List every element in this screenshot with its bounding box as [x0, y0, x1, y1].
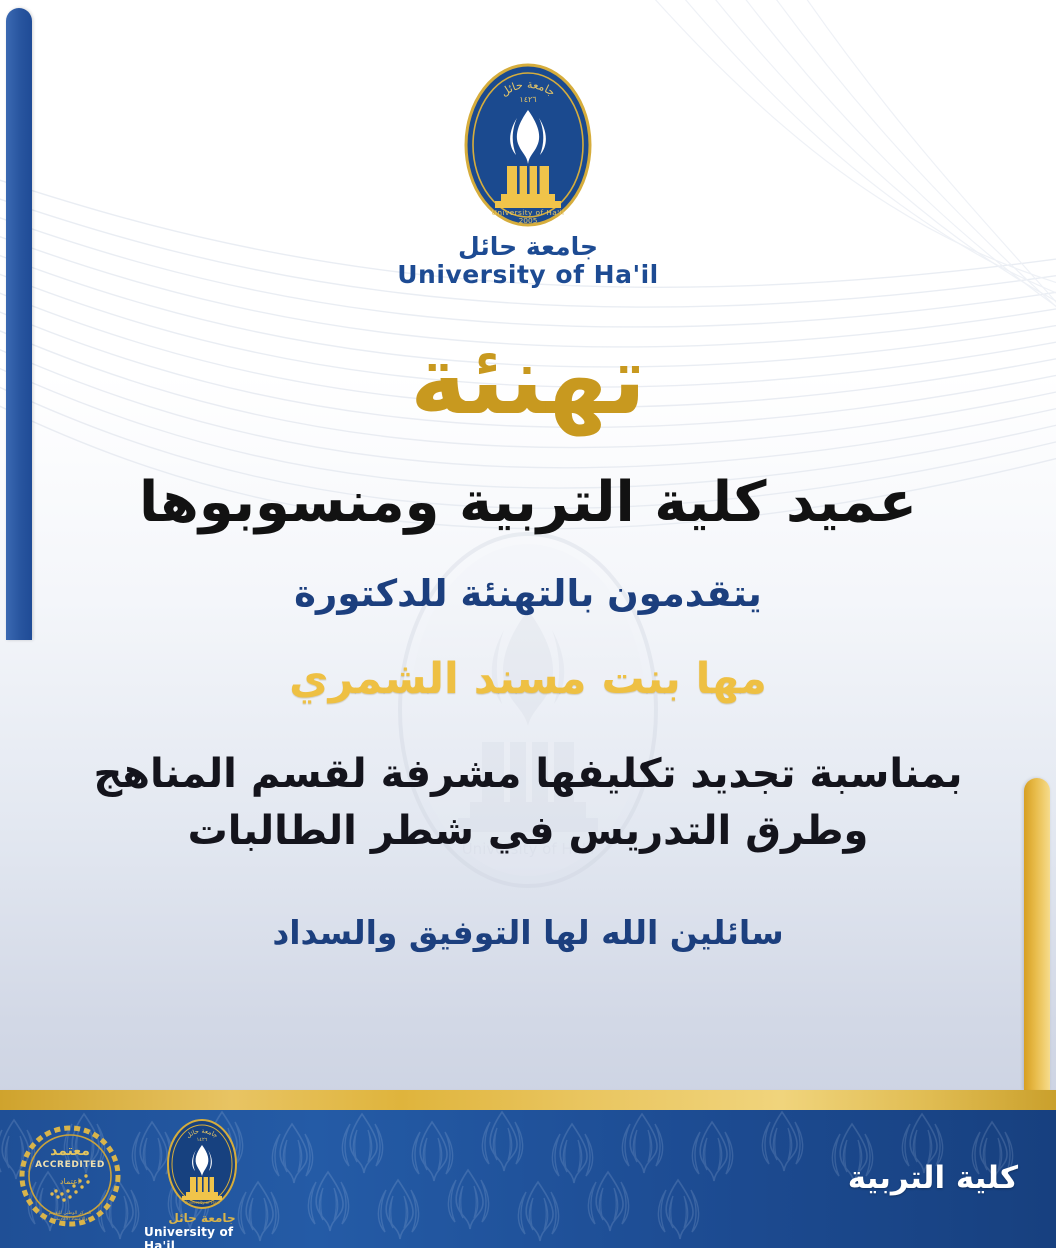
poster-footer: كلية التربية معتمد ACCREDITED اعتماد: [0, 1110, 1056, 1248]
svg-text:معتمد: معتمد: [50, 1143, 90, 1159]
wordmark-english: University of Ha'il: [397, 262, 659, 288]
svg-text:المركز الوطني للتقويم: المركز الوطني للتقويم: [49, 1210, 92, 1216]
university-crest-icon: جامعة حائل ١٤٢٦: [462, 62, 594, 228]
right-frame-bar: [1024, 778, 1050, 1090]
body-line-1: بمناسبة تجديد تكليفها مشرفة لقسم المناهج: [46, 746, 1010, 803]
svg-text:اعتماد: اعتماد: [60, 1177, 80, 1186]
subline: يتقدمون بالتهنئة للدكتورة: [46, 572, 1010, 616]
body-line-2: وطرق التدريس في شطر الطالبات: [46, 803, 1010, 860]
university-wordmark: جامعة حائل University of Ha'il: [397, 234, 659, 289]
svg-text:2005: 2005: [519, 216, 538, 225]
body-text: بمناسبة تجديد تكليفها مشرفة لقسم المناهج…: [46, 746, 1010, 860]
honoree-name: مها بنت مسند الشمري: [46, 654, 1010, 706]
svg-text:١٤٢٦: ١٤٢٦: [519, 95, 536, 104]
congratulations-poster: University of Ha'il جامعة حائل ١٤٢٦: [0, 0, 1056, 1248]
poster-content: عميد كلية التربية ومنسوبوها يتقدمون بالت…: [46, 470, 1010, 953]
footer-wordmark-english: University of Ha'il: [144, 1225, 260, 1248]
header-logo-block: جامعة حائل ١٤٢٦: [0, 62, 1056, 289]
svg-text:١٤٢٦: ١٤٢٦: [197, 1137, 208, 1143]
footer-logo-group: معتمد ACCREDITED اعتماد المركز الوطني لل…: [18, 1118, 260, 1248]
footer-wordmark-arabic: جامعة حائل: [168, 1211, 235, 1225]
closing-prayer: سائلين الله لها التوفيق والسداد: [46, 912, 1010, 953]
svg-text:University of Ha'il: University of Ha'il: [184, 1200, 219, 1205]
calligraphy-tahnia: تهنئة: [0, 332, 1056, 428]
footer-faculty-title: كلية التربية: [848, 1160, 1018, 1196]
svg-text:والاعتماد الأكاديمي: والاعتماد الأكاديمي: [52, 1215, 87, 1222]
footer-university-logo: جامعة حائل ١٤٢٦: [144, 1118, 260, 1248]
svg-text:ACCREDITED: ACCREDITED: [35, 1160, 105, 1170]
wordmark-arabic: جامعة حائل: [397, 234, 659, 260]
university-crest-icon: جامعة حائل ١٤٢٦: [165, 1118, 239, 1210]
gold-divider: [0, 1090, 1056, 1110]
accreditation-seal-icon: معتمد ACCREDITED اعتماد المركز الوطني لل…: [18, 1118, 122, 1238]
headline: عميد كلية التربية ومنسوبوها: [46, 470, 1010, 536]
